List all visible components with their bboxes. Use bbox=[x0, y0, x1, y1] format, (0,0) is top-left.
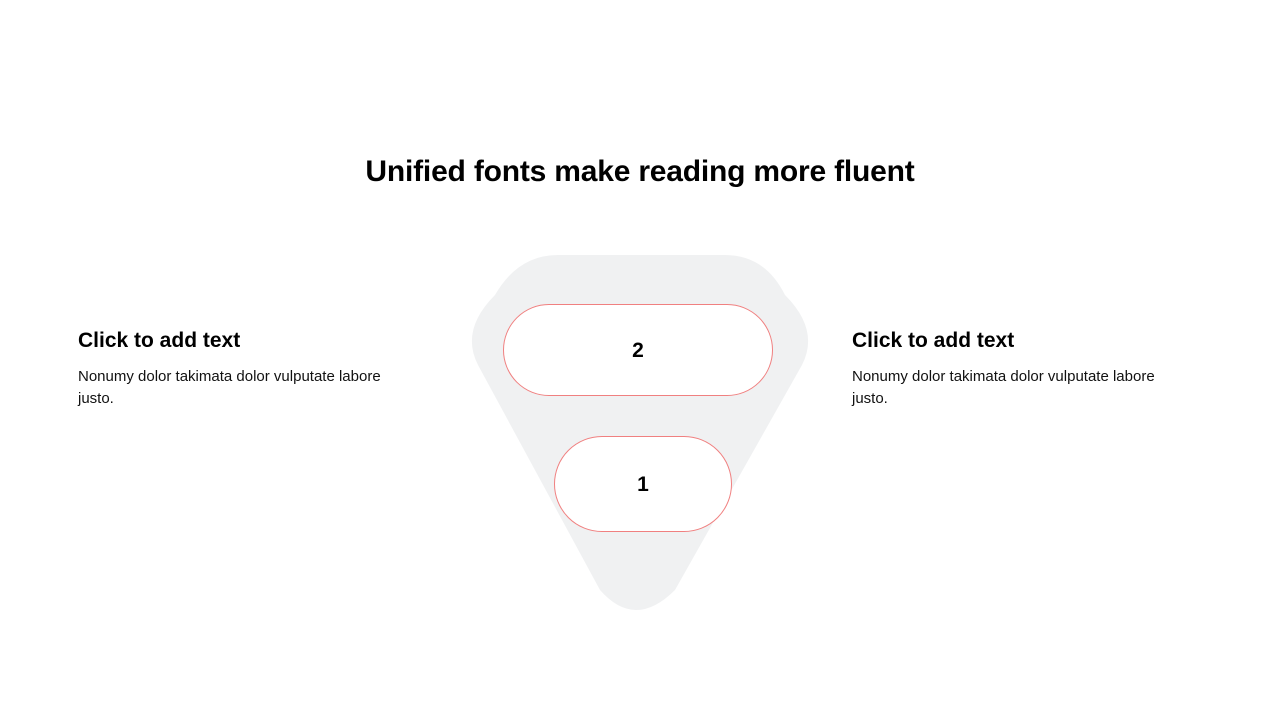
funnel-step-2-label: 2 bbox=[632, 340, 644, 361]
text-column-right-body[interactable]: Nonumy dolor takimata dolor vulputate la… bbox=[852, 366, 1182, 410]
page-title[interactable]: Unified fonts make reading more fluent bbox=[0, 152, 1280, 192]
rounded-triangle-icon bbox=[440, 240, 840, 630]
funnel-step-1[interactable]: 1 bbox=[554, 436, 732, 532]
slide-canvas: Unified fonts make reading more fluent C… bbox=[0, 0, 1280, 720]
text-column-right[interactable]: Click to add text Nonumy dolor takimata … bbox=[852, 328, 1192, 410]
text-column-right-heading[interactable]: Click to add text bbox=[852, 328, 1192, 354]
funnel-diagram[interactable] bbox=[440, 240, 840, 630]
text-column-left[interactable]: Click to add text Nonumy dolor takimata … bbox=[78, 328, 418, 410]
text-column-left-heading[interactable]: Click to add text bbox=[78, 328, 418, 354]
text-column-left-body[interactable]: Nonumy dolor takimata dolor vulputate la… bbox=[78, 366, 408, 410]
funnel-step-2[interactable]: 2 bbox=[503, 304, 773, 396]
funnel-step-1-label: 1 bbox=[637, 474, 649, 495]
